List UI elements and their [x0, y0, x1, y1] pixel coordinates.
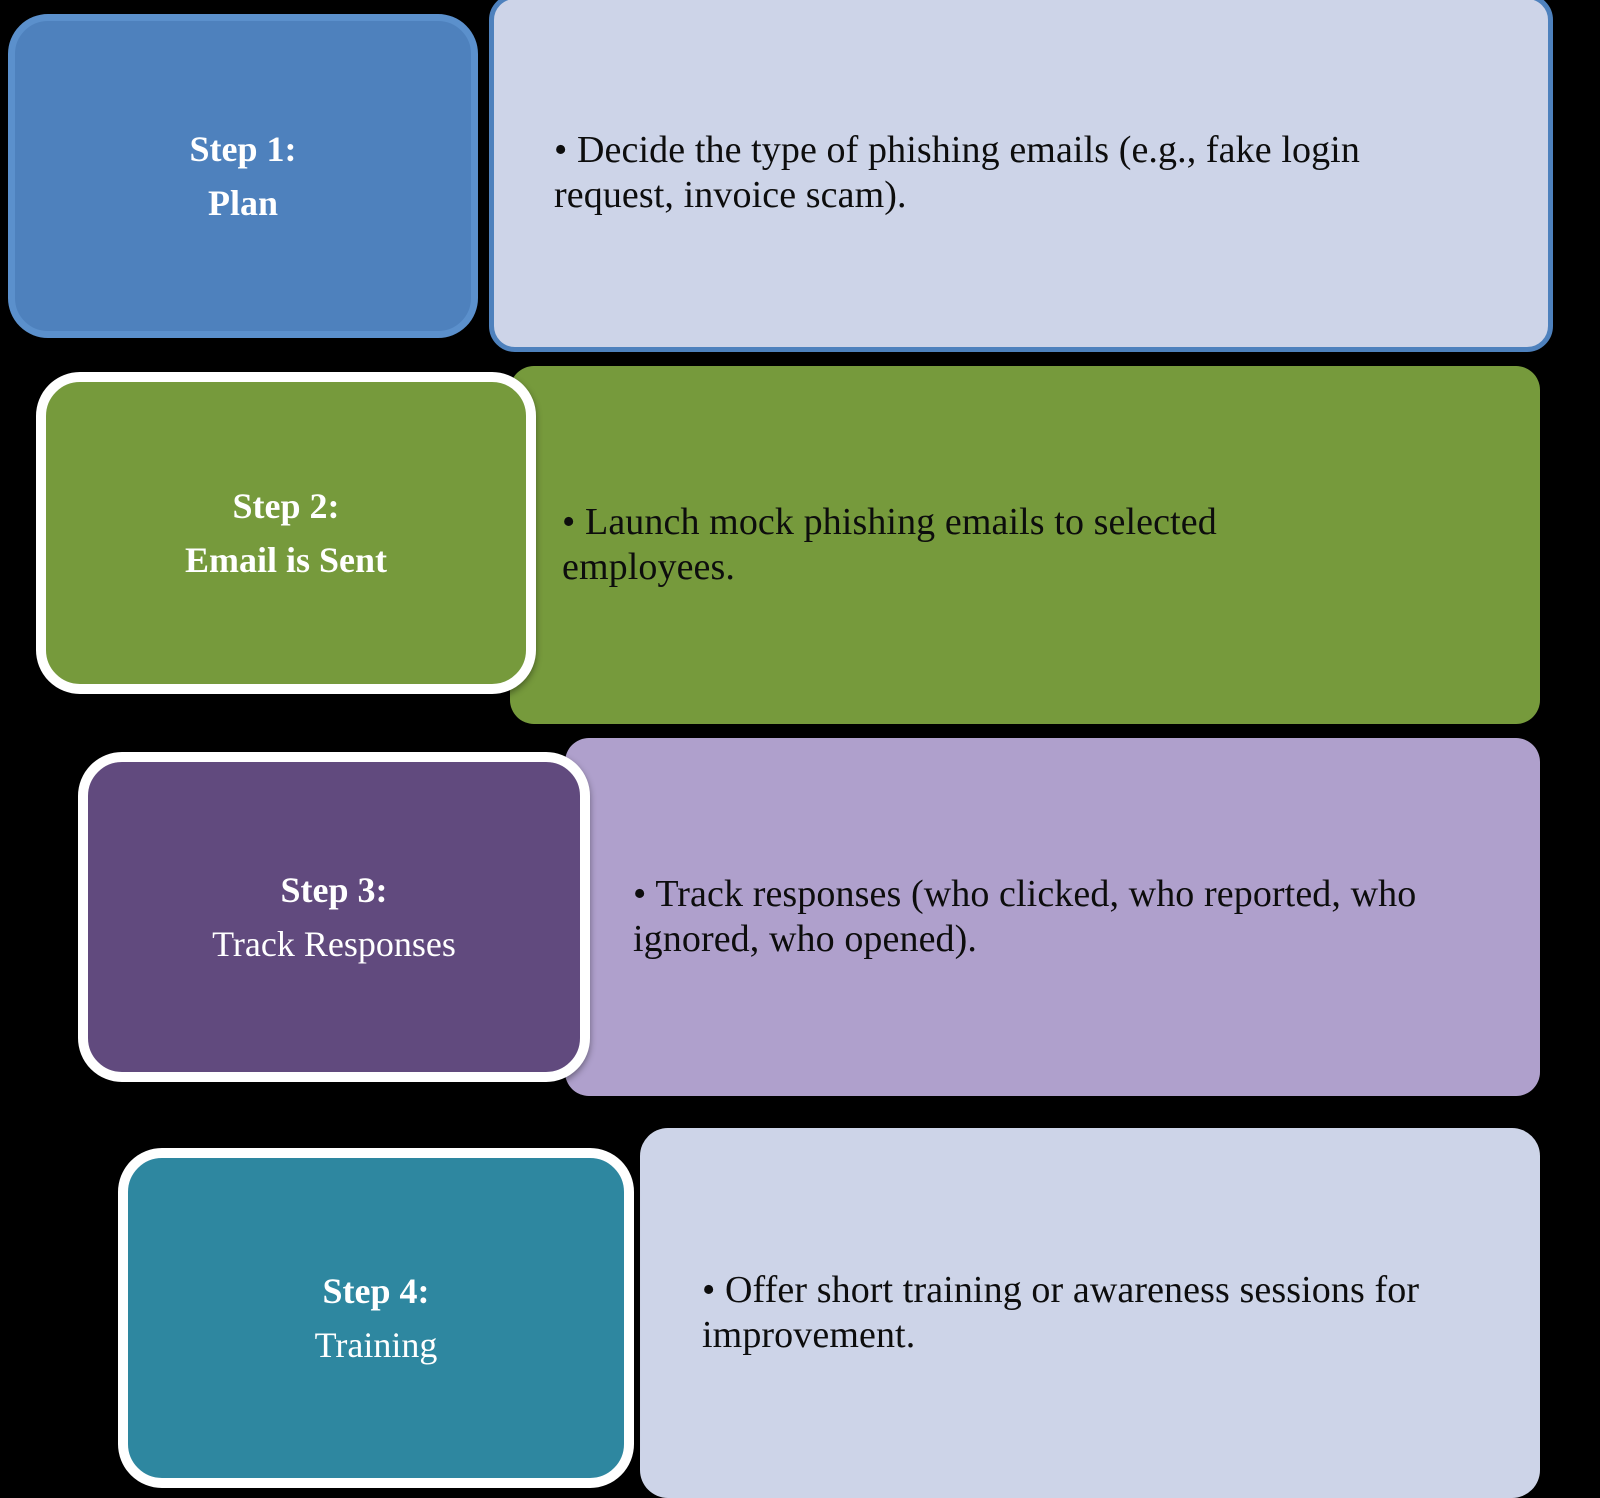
step-2-label-line1: Step 2:	[233, 479, 340, 533]
process-diagram: • Decide the type of phishing emails (e.…	[0, 0, 1600, 1478]
step-1-box[interactable]: Step 1: Plan	[8, 14, 478, 338]
step-4-description: Offer short training or awareness sessio…	[702, 1269, 1419, 1356]
step-3-description-text: • Track responses (who clicked, who repo…	[633, 872, 1463, 962]
step-3-label-line1: Step 3:	[281, 863, 388, 917]
step-3-box[interactable]: Step 3: Track Responses	[78, 752, 590, 1082]
step-4-label-line1: Step 4:	[323, 1264, 430, 1318]
step-1-description-text: • Decide the type of phishing emails (e.…	[554, 128, 1454, 218]
bullet-icon: •	[562, 501, 575, 543]
step-4-label-line2: Training	[315, 1318, 438, 1372]
step-3-description-panel: • Track responses (who clicked, who repo…	[565, 738, 1540, 1096]
step-2-description-panel: • Launch mock phishing emails to selecte…	[510, 366, 1540, 724]
step-2-description-text: • Launch mock phishing emails to selecte…	[562, 500, 1392, 590]
bullet-icon: •	[702, 1269, 715, 1311]
step-1-label-line1: Step 1:	[190, 122, 297, 176]
step-2-label-line2: Email is Sent	[185, 533, 387, 587]
step-1-label-line2: Plan	[208, 176, 278, 230]
step-2-description: Launch mock phishing emails to selected …	[562, 501, 1217, 588]
step-1-description: Decide the type of phishing emails (e.g.…	[554, 129, 1360, 216]
step-4-description-panel: • Offer short training or awareness sess…	[640, 1128, 1540, 1498]
step-2-box[interactable]: Step 2: Email is Sent	[36, 372, 536, 694]
step-3-label-line2: Track Responses	[212, 917, 456, 971]
bullet-icon: •	[554, 129, 567, 171]
step-4-description-text: • Offer short training or awareness sess…	[702, 1268, 1502, 1358]
step-4-box[interactable]: Step 4: Training	[118, 1148, 634, 1488]
step-1-description-panel: • Decide the type of phishing emails (e.…	[489, 0, 1553, 352]
step-3-description: Track responses (who clicked, who report…	[633, 873, 1416, 960]
bullet-icon: •	[633, 873, 646, 915]
